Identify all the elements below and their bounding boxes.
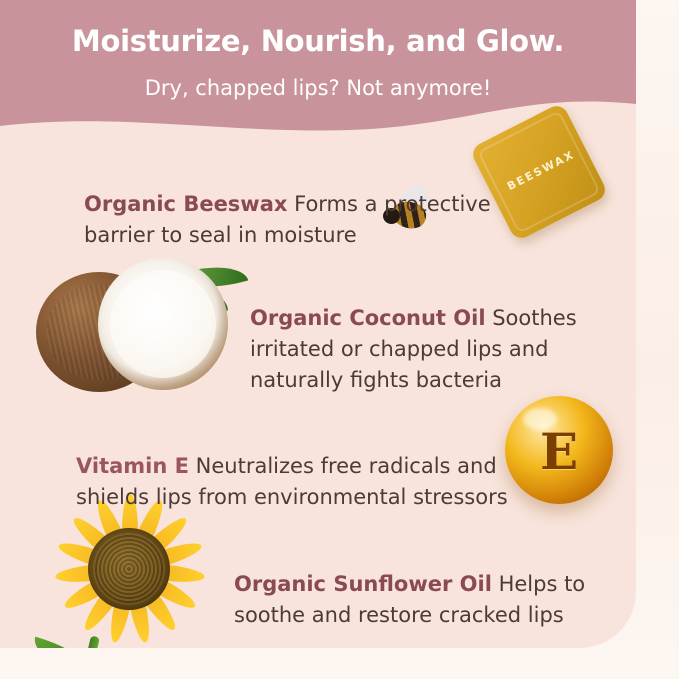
ingredient-name-sunflower-oil: Organic Sunflower Oil	[234, 572, 492, 596]
beeswax-bar-image: BEESWAX	[487, 120, 607, 238]
sunflower-center-shape	[88, 528, 170, 610]
coconut-flesh-shape	[110, 270, 216, 378]
content-card: Moisturize, Nourish, and Glow. Dry, chap…	[0, 0, 636, 648]
ingredient-name-beeswax: Organic Beeswax	[84, 192, 287, 216]
page-title: Moisturize, Nourish, and Glow.	[0, 24, 636, 58]
claim-vitamin-e: Vitamin E Neutralizes free radicals and …	[76, 420, 546, 513]
claim-sunflower-oil: Organic Sunflower Oil Helps to soothe an…	[234, 538, 634, 631]
claim-beeswax: Organic Beeswax Forms a protective barri…	[84, 158, 504, 251]
claim-coconut-oil: Organic Coconut Oil Soothes irritated or…	[250, 272, 630, 396]
product-benefits-infographic: Moisturize, Nourish, and Glow. Dry, chap…	[0, 0, 679, 679]
ingredient-name-vitamin-e: Vitamin E	[76, 454, 189, 478]
coconut-image	[30, 258, 245, 403]
ingredient-name-coconut-oil: Organic Coconut Oil	[250, 306, 486, 330]
page-subtitle: Dry, chapped lips? Not anymore!	[0, 76, 636, 100]
